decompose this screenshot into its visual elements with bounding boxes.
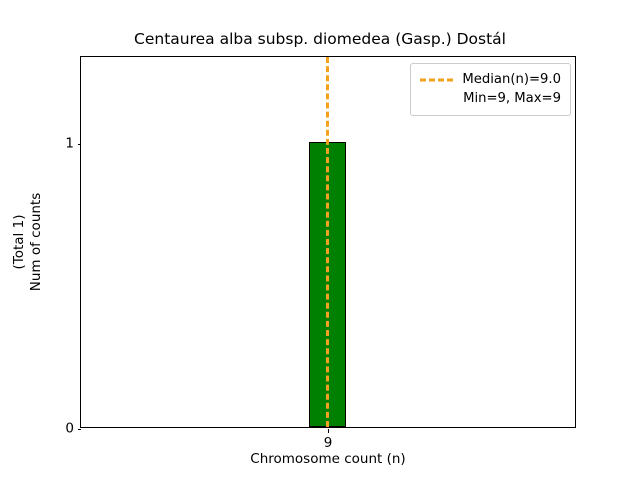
plot-axes: 0 1 9 Median(n)=9.0 Min=9, Max=9 xyxy=(80,56,576,428)
y-tick-mark xyxy=(78,429,82,430)
median-vline xyxy=(326,57,329,427)
dashed-line-icon xyxy=(420,73,453,87)
x-tick-label: 9 xyxy=(324,436,333,450)
legend-label-median: Median(n)=9.0 xyxy=(462,72,561,87)
y-tick-label: 1 xyxy=(65,137,74,151)
chart-title: Centaurea alba subsp. diomedea (Gasp.) D… xyxy=(0,30,640,48)
chart-figure: Centaurea alba subsp. diomedea (Gasp.) D… xyxy=(0,0,640,480)
y-axis-label-sub: (Total 1) xyxy=(11,193,28,292)
legend-entry-median: Median(n)=9.0 xyxy=(420,70,561,89)
legend-label-minmax: Min=9, Max=9 xyxy=(463,91,561,106)
x-tick-mark xyxy=(328,429,329,433)
y-tick-mark xyxy=(78,144,82,145)
chart-legend: Median(n)=9.0 Min=9, Max=9 xyxy=(410,63,571,116)
y-axis-label-main: Num of counts xyxy=(28,193,45,292)
y-axis-label-container: (Total 1) Num of counts xyxy=(0,56,56,428)
y-axis-label: (Total 1) Num of counts xyxy=(11,193,45,292)
legend-entry-minmax: Min=9, Max=9 xyxy=(420,89,561,108)
x-axis-label: Chromosome count (n) xyxy=(80,452,576,467)
y-tick-label: 0 xyxy=(65,422,74,436)
